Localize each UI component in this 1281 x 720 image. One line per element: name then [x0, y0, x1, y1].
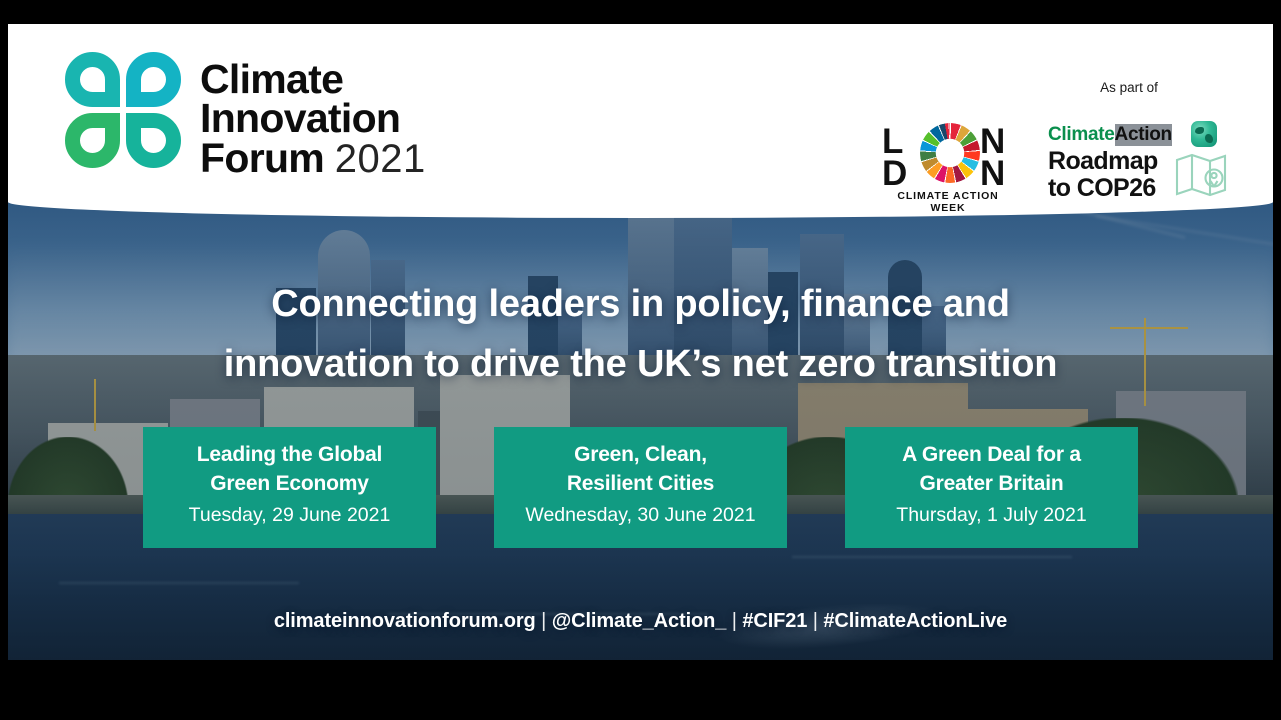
slide-frame: Climate Innovation Forum 2021 As part of…: [8, 24, 1273, 660]
session-card-green-clean-resilient-cities[interactable]: Green, Clean, Resilient Cities Wednesday…: [494, 427, 787, 548]
headline-line-2: innovation to drive the UK’s net zero tr…: [98, 334, 1183, 394]
session-date: Wednesday, 30 June 2021: [504, 504, 777, 527]
session-title-line-1: Leading the Global: [153, 441, 426, 470]
page-title: Connecting leaders in policy, finance an…: [8, 274, 1273, 394]
roadmap-line-1: Roadmap: [1048, 148, 1158, 175]
as-part-of-label: As part of: [1083, 80, 1175, 95]
brand-line-innovation: Innovation: [200, 99, 426, 138]
session-title-line-2: Resilient Cities: [504, 470, 777, 499]
globe-icon: [1191, 121, 1217, 147]
hashtag-climateactionlive[interactable]: #ClimateActionLive: [823, 610, 1007, 632]
session-title: A Green Deal for a Greater Britain: [855, 441, 1128, 498]
website-link[interactable]: climateinnovationforum.org: [274, 610, 536, 632]
twitter-handle[interactable]: @Climate_Action_: [552, 610, 727, 632]
session-card-a-green-deal-for-a-greater-britain[interactable]: A Green Deal for a Greater Britain Thurs…: [845, 427, 1138, 548]
climate-action-roadmap-logo[interactable]: ClimateAction Roadmap to COP26: [1048, 124, 1228, 204]
session-date: Tuesday, 29 June 2021: [153, 504, 426, 527]
word-climate: Climate: [1048, 124, 1115, 145]
four-petal-logo-icon: [65, 52, 181, 168]
session-title-line-1: Green, Clean,: [504, 441, 777, 470]
header-panel: Climate Innovation Forum 2021 As part of…: [8, 24, 1273, 218]
logo-petal-bottom-right: [126, 113, 181, 168]
brand-line-forum: Forum 2021: [200, 139, 426, 178]
separator: |: [536, 610, 552, 632]
separator: |: [726, 610, 742, 632]
session-card-list: Leading the Global Green Economy Tuesday…: [8, 427, 1273, 548]
session-title: Green, Clean, Resilient Cities: [504, 441, 777, 498]
session-title: Leading the Global Green Economy: [153, 441, 426, 498]
lcaw-letter-grid: L N D N: [880, 122, 1016, 186]
footer-links: climateinnovationforum.org | @Climate_Ac…: [8, 610, 1273, 633]
lcaw-letter-d: D: [882, 156, 906, 191]
session-title-line-2: Green Economy: [153, 470, 426, 499]
roadmap-wordmark: Roadmap to COP26: [1048, 148, 1158, 201]
headline-line-1: Connecting leaders in policy, finance an…: [98, 274, 1183, 334]
lcaw-letter-n2: N: [980, 156, 1004, 191]
logo-petal-top-left: [65, 52, 120, 107]
word-action: Action: [1115, 124, 1172, 146]
brand-word-forum: Forum: [200, 135, 324, 181]
brand-year: 2021: [335, 137, 426, 181]
separator: |: [807, 610, 823, 632]
folded-map-pin-icon: [1174, 150, 1228, 198]
session-date: Thursday, 1 July 2021: [855, 504, 1128, 527]
lcaw-subtitle: CLIMATE ACTION WEEK: [880, 190, 1016, 214]
hashtag-cif21[interactable]: #CIF21: [742, 610, 807, 632]
sdg-wheel-spokes-icon: [920, 123, 980, 183]
brand-wordmark: Climate Innovation Forum 2021: [200, 60, 426, 178]
session-title-line-1: A Green Deal for a: [855, 441, 1128, 470]
london-climate-action-week-logo[interactable]: L N D N CLIMATE ACTION WEEK: [880, 122, 1016, 206]
climate-action-wordmark: ClimateAction: [1048, 124, 1115, 146]
logo-petal-bottom-left: [65, 113, 120, 168]
brand-line-climate: Climate: [200, 60, 426, 99]
roadmap-line-2: to COP26: [1048, 175, 1158, 202]
session-card-leading-the-global-green-economy[interactable]: Leading the Global Green Economy Tuesday…: [143, 427, 436, 548]
session-title-line-2: Greater Britain: [855, 470, 1128, 499]
logo-petal-top-right: [126, 52, 181, 107]
